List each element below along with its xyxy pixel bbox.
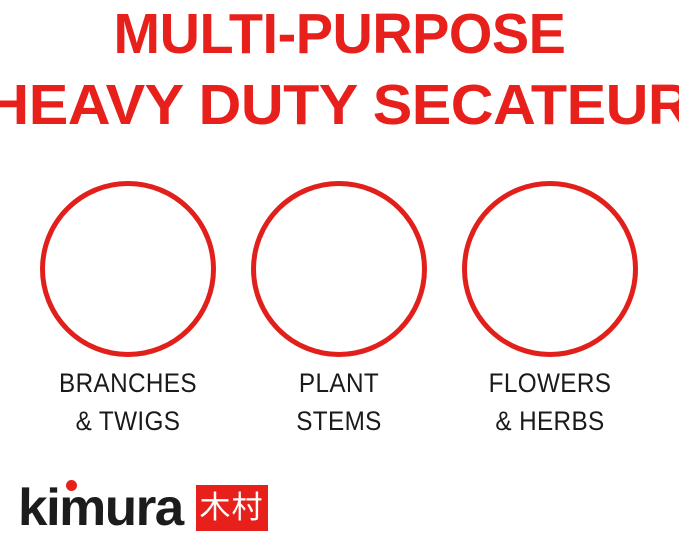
feature-ring-branches xyxy=(40,181,216,357)
caption-flowers-line1: FLOWERS xyxy=(471,364,629,402)
feature-captions-row: BRANCHES & TWIGS PLANT STEMS FLOWERS & H… xyxy=(0,364,679,454)
feature-circles-row xyxy=(0,181,679,357)
caption-flowers: FLOWERS & HERBS xyxy=(471,364,629,440)
brand-logo: kimura 木村 xyxy=(18,479,268,537)
caption-flowers-line2: & HERBS xyxy=(471,402,629,440)
brand-kanji-badge: 木村 xyxy=(196,485,268,531)
caption-stems-line1: PLANT xyxy=(260,364,418,402)
feature-ring-stems xyxy=(251,181,427,357)
caption-stems: PLANT STEMS xyxy=(260,364,418,440)
feature-circle-stems xyxy=(251,181,427,357)
brand-wordmark: kimura xyxy=(18,482,183,534)
headline-block: MULTI-PURPOSE HEAVY DUTY SECATEURS xyxy=(0,0,679,134)
caption-stems-line2: STEMS xyxy=(260,402,418,440)
headline-line-1: MULTI-PURPOSE xyxy=(7,6,672,63)
caption-branches-line2: & TWIGS xyxy=(49,402,207,440)
feature-circle-branches xyxy=(40,181,216,357)
feature-circle-flowers xyxy=(462,181,638,357)
headline-line-2: HEAVY DUTY SECATEURS xyxy=(0,77,679,134)
feature-ring-flowers xyxy=(462,181,638,357)
caption-branches-line1: BRANCHES xyxy=(49,364,207,402)
caption-branches: BRANCHES & TWIGS xyxy=(49,364,207,440)
